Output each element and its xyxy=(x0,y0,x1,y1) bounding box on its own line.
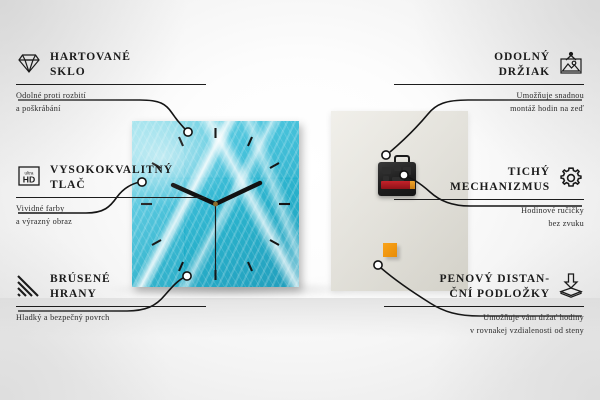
feature-desc-line-1: Vividné farby xyxy=(16,203,206,215)
feature-title-line-2: HRANY xyxy=(50,287,111,302)
feature-desc-line-1: Hodinové ručičky xyxy=(394,205,584,217)
feature-divider xyxy=(16,306,206,307)
feature-polished-edges: BRÚSENÉ HRANY Hladký a bezpečný povrch xyxy=(16,272,206,325)
ultra-hd-icon: ultra HD xyxy=(16,163,42,189)
feature-silent-mechanism: TICHÝ MECHANIZMUS Hodinové ručičky bez z… xyxy=(394,165,584,230)
feature-title-line-2: ČNÍ PODLOŽKY xyxy=(440,287,550,302)
feature-tempered-glass: HARTOVANÉ SKLO Odolné proti rozbití a po… xyxy=(16,50,206,115)
feature-desc-line-1: Umožňuje vám držať hodiny xyxy=(384,312,584,324)
feature-title-line-2: TLAČ xyxy=(50,178,173,193)
feature-title-line-1: ODOLNÝ xyxy=(494,50,550,65)
feature-title-line-2: MECHANIZMUS xyxy=(450,180,550,195)
feature-title-line-2: DRŽIAK xyxy=(494,65,550,80)
diamond-icon xyxy=(16,50,42,76)
feature-high-quality-print: ultra HD VYSOKOKVALITNÝ TLAČ Vividné far… xyxy=(16,163,206,228)
picture-frame-hanger-icon xyxy=(558,50,584,76)
feature-desc-line-2: a výrazný obraz xyxy=(16,216,206,228)
feature-divider xyxy=(16,84,206,85)
feature-title-line-1: BRÚSENÉ xyxy=(50,272,111,287)
feature-desc-line-2: bez zvuku xyxy=(394,218,584,230)
feature-desc-line-2: montáž hodin na zeď xyxy=(394,103,584,115)
feature-title-line-1: VYSOKOKVALITNÝ xyxy=(50,163,173,178)
feature-desc-line-2: v rovnakej vzdialenosti od steny xyxy=(384,325,584,337)
feature-divider xyxy=(16,197,206,198)
feature-title-line-1: HARTOVANÉ xyxy=(50,50,131,65)
feature-title-line-1: PENOVÝ DISTAN- xyxy=(440,272,550,287)
gear-icon xyxy=(558,165,584,191)
feature-title-line-2: SKLO xyxy=(50,65,131,80)
feature-title-line-1: TICHÝ xyxy=(450,165,550,180)
infographic-canvas: HARTOVANÉ SKLO Odolné proti rozbití a po… xyxy=(0,0,600,400)
diagonal-stripes-icon xyxy=(16,272,42,298)
feature-desc-line-1: Hladký a bezpečný povrch xyxy=(16,312,206,324)
feature-desc-line-2: a poškrábání xyxy=(16,103,206,115)
feature-desc-line-1: Odolné proti rozbití xyxy=(16,90,206,102)
feature-foam-spacers: PENOVÝ DISTAN- ČNÍ PODLOŽKY Umožňuje vám… xyxy=(384,272,584,337)
foam-spacer-pad xyxy=(383,243,397,257)
feature-durable-holder: ODOLNÝ DRŽIAK Umožňuje snadnou montáž ho… xyxy=(394,50,584,115)
svg-text:HD: HD xyxy=(23,175,35,185)
press-down-layers-icon xyxy=(558,272,584,298)
feature-desc-line-1: Umožňuje snadnou xyxy=(394,90,584,102)
feature-divider xyxy=(394,84,584,85)
feature-divider xyxy=(384,306,584,307)
feature-divider xyxy=(394,199,584,200)
